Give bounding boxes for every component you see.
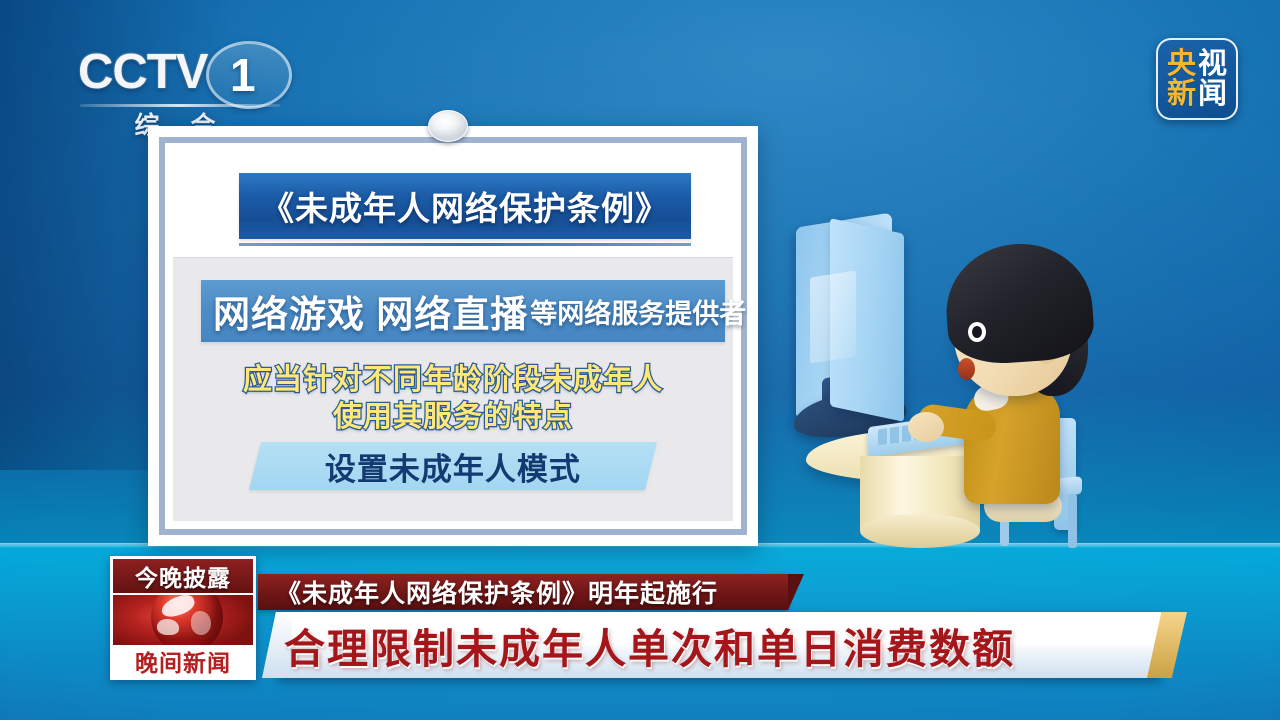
info-panel-frame: 《未成年人网络保护条例》 网络游戏 网络直播 等网络服务提供者 应当针对不同年龄… xyxy=(159,137,747,535)
cctv-news-logo-row-1: 央 视 xyxy=(1167,50,1227,79)
subtitle-text: 《未成年人网络保护条例》明年起施行 xyxy=(276,574,718,610)
program-badge: 今晚披露 晚间新闻 xyxy=(110,556,256,680)
badge-tagline: 今晚披露 xyxy=(113,559,253,593)
character-hand xyxy=(908,412,944,442)
globe-landmass-3 xyxy=(191,611,211,635)
highlight-wrapper: 设置未成年人模式 xyxy=(173,442,733,490)
minor-mode-highlight: 设置未成年人模式 xyxy=(249,442,657,490)
cctv-channel-number: 1 xyxy=(230,48,256,102)
broadcast-screen: CCTV 1 综 合 央 视 新 闻 xyxy=(0,0,1280,720)
requirement-line-2: 使用其服务的特点 xyxy=(173,399,733,436)
info-panel-content: 网络游戏 网络直播 等网络服务提供者 应当针对不同年龄阶段未成年人 使用其服务的… xyxy=(173,257,733,521)
character-hair xyxy=(942,239,1096,367)
requirement-line-1: 应当针对不同年龄阶段未成年人 xyxy=(173,362,733,399)
service-types-text: 网络游戏 网络直播 xyxy=(213,284,528,338)
cartoon-illustration xyxy=(786,218,1116,558)
cctv-news-logo-row-2: 新 闻 xyxy=(1167,80,1227,109)
cctv1-channel-logo: CCTV 1 综 合 xyxy=(78,44,283,136)
cctv-news-char-wen: 闻 xyxy=(1198,80,1227,109)
minor-mode-text: 设置未成年人模式 xyxy=(325,444,581,489)
service-provider-band: 网络游戏 网络直播 等网络服务提供者 xyxy=(201,280,725,342)
cctv-news-char-shi: 视 xyxy=(1198,50,1227,79)
service-providers-text: 等网络服务提供者 xyxy=(530,292,746,331)
cctv-news-logo: 央 视 新 闻 xyxy=(1156,38,1238,120)
badge-tagline-text: 今晚披露 xyxy=(135,559,231,593)
info-panel-body: 《未成年人网络保护条例》 网络游戏 网络直播 等网络服务提供者 应当针对不同年龄… xyxy=(173,151,733,521)
headline-text-wrapper: 合理限制未成年人单次和单日消费数额 xyxy=(284,612,1139,678)
globe-icon xyxy=(113,595,253,645)
cctv-news-char-xin: 新 xyxy=(1167,80,1196,109)
info-panel: 《未成年人网络保护条例》 网络游戏 网络直播 等网络服务提供者 应当针对不同年龄… xyxy=(148,126,758,546)
headline-text: 合理限制未成年人单次和单日消费数额 xyxy=(284,615,1015,675)
info-panel-title-zone: 《未成年人网络保护条例》 xyxy=(173,151,733,257)
cctv-news-char-yang: 央 xyxy=(1167,50,1196,79)
program-name: 晚间新闻 xyxy=(113,645,253,677)
panel-top-knob xyxy=(428,110,468,142)
cctv-wordmark: CCTV xyxy=(78,44,207,100)
chair-leg-back-icon xyxy=(1068,494,1077,548)
character-mouth xyxy=(958,358,975,380)
info-panel-inner-frame: 《未成年人网络保护条例》 网络游戏 网络直播 等网络服务提供者 应当针对不同年龄… xyxy=(165,143,741,529)
headline-bar: 合理限制未成年人单次和单日消费数额 xyxy=(262,612,1187,678)
program-name-text: 晚间新闻 xyxy=(135,644,231,678)
regulation-title-banner: 《未成年人网络保护条例》 xyxy=(239,173,691,239)
character-eye-pupil xyxy=(972,326,982,338)
globe-landmass-2 xyxy=(157,619,179,635)
regulation-title: 《未成年人网络保护条例》 xyxy=(261,182,669,230)
requirement-text-block: 应当针对不同年龄阶段未成年人 使用其服务的特点 xyxy=(173,362,733,436)
monitor-glass-reflection xyxy=(810,270,856,363)
desk-base-icon xyxy=(860,514,980,548)
subtitle-bar: 《未成年人网络保护条例》明年起施行 xyxy=(258,574,788,610)
title-underline xyxy=(239,243,691,246)
